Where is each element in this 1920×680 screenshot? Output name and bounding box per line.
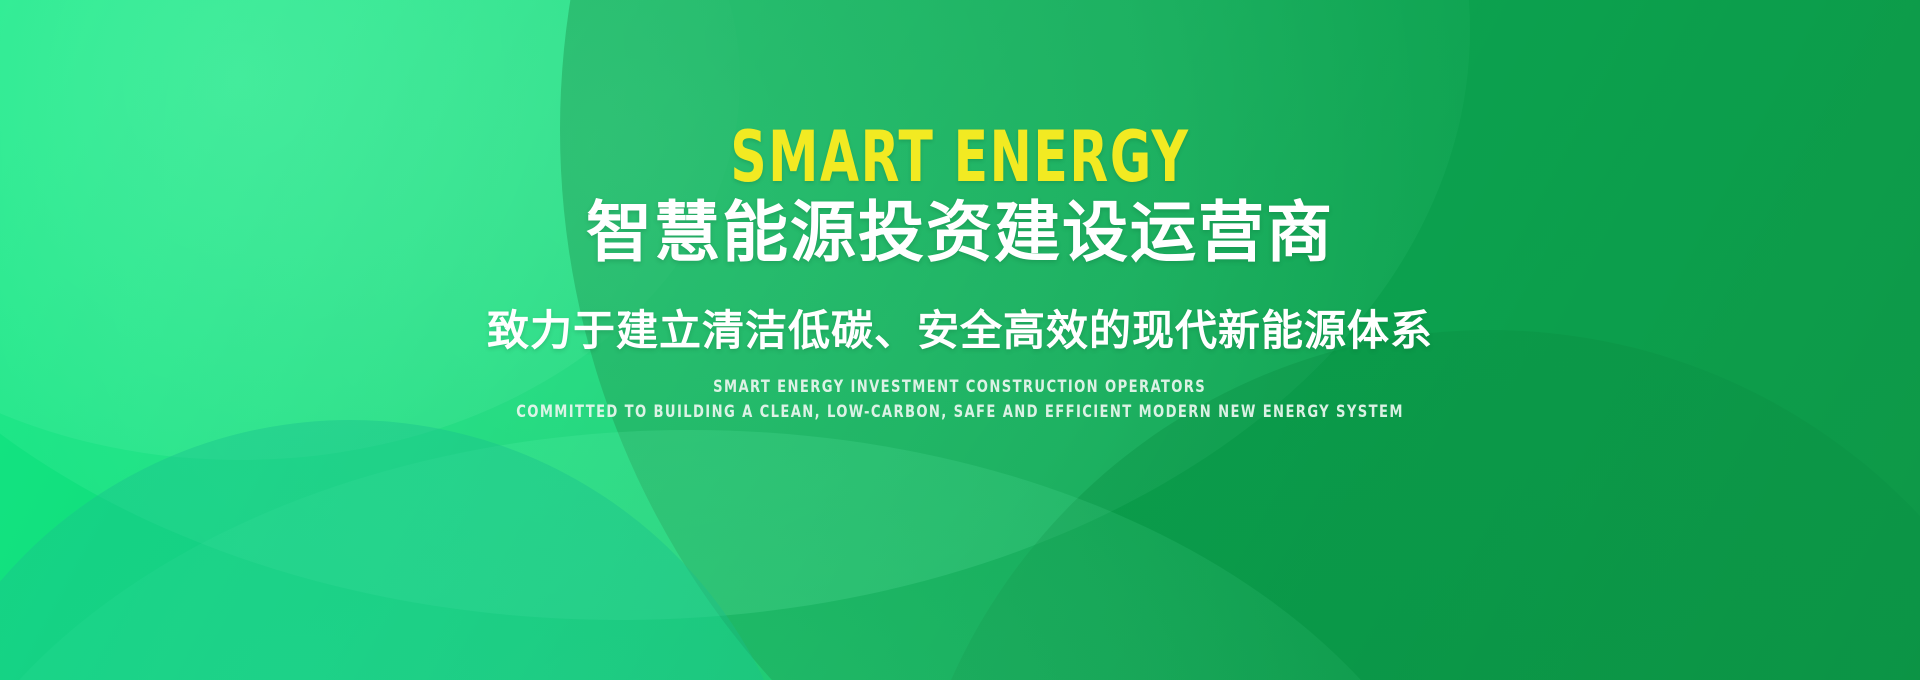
headline-chinese: 智慧能源投资建设运营商 — [586, 198, 1334, 268]
tagline-english-line-1: SMART ENERGY INVESTMENT CONSTRUCTION OPE… — [713, 378, 1206, 398]
headline-english: SMART ENERGY — [730, 122, 1189, 192]
tagline-english-line-2: COMMITTED TO BUILDING A CLEAN, LOW-CARBO… — [516, 403, 1404, 423]
subtitle-chinese: 致力于建立清洁低碳、安全高效的现代新能源体系 — [487, 308, 1433, 354]
banner-content: SMART ENERGY 智慧能源投资建设运营商 致力于建立清洁低碳、安全高效的… — [0, 0, 1920, 680]
tagline-group: SMART ENERGY INVESTMENT CONSTRUCTION OPE… — [444, 378, 1476, 422]
smart-energy-banner: SMART ENERGY 智慧能源投资建设运营商 致力于建立清洁低碳、安全高效的… — [0, 0, 1920, 680]
